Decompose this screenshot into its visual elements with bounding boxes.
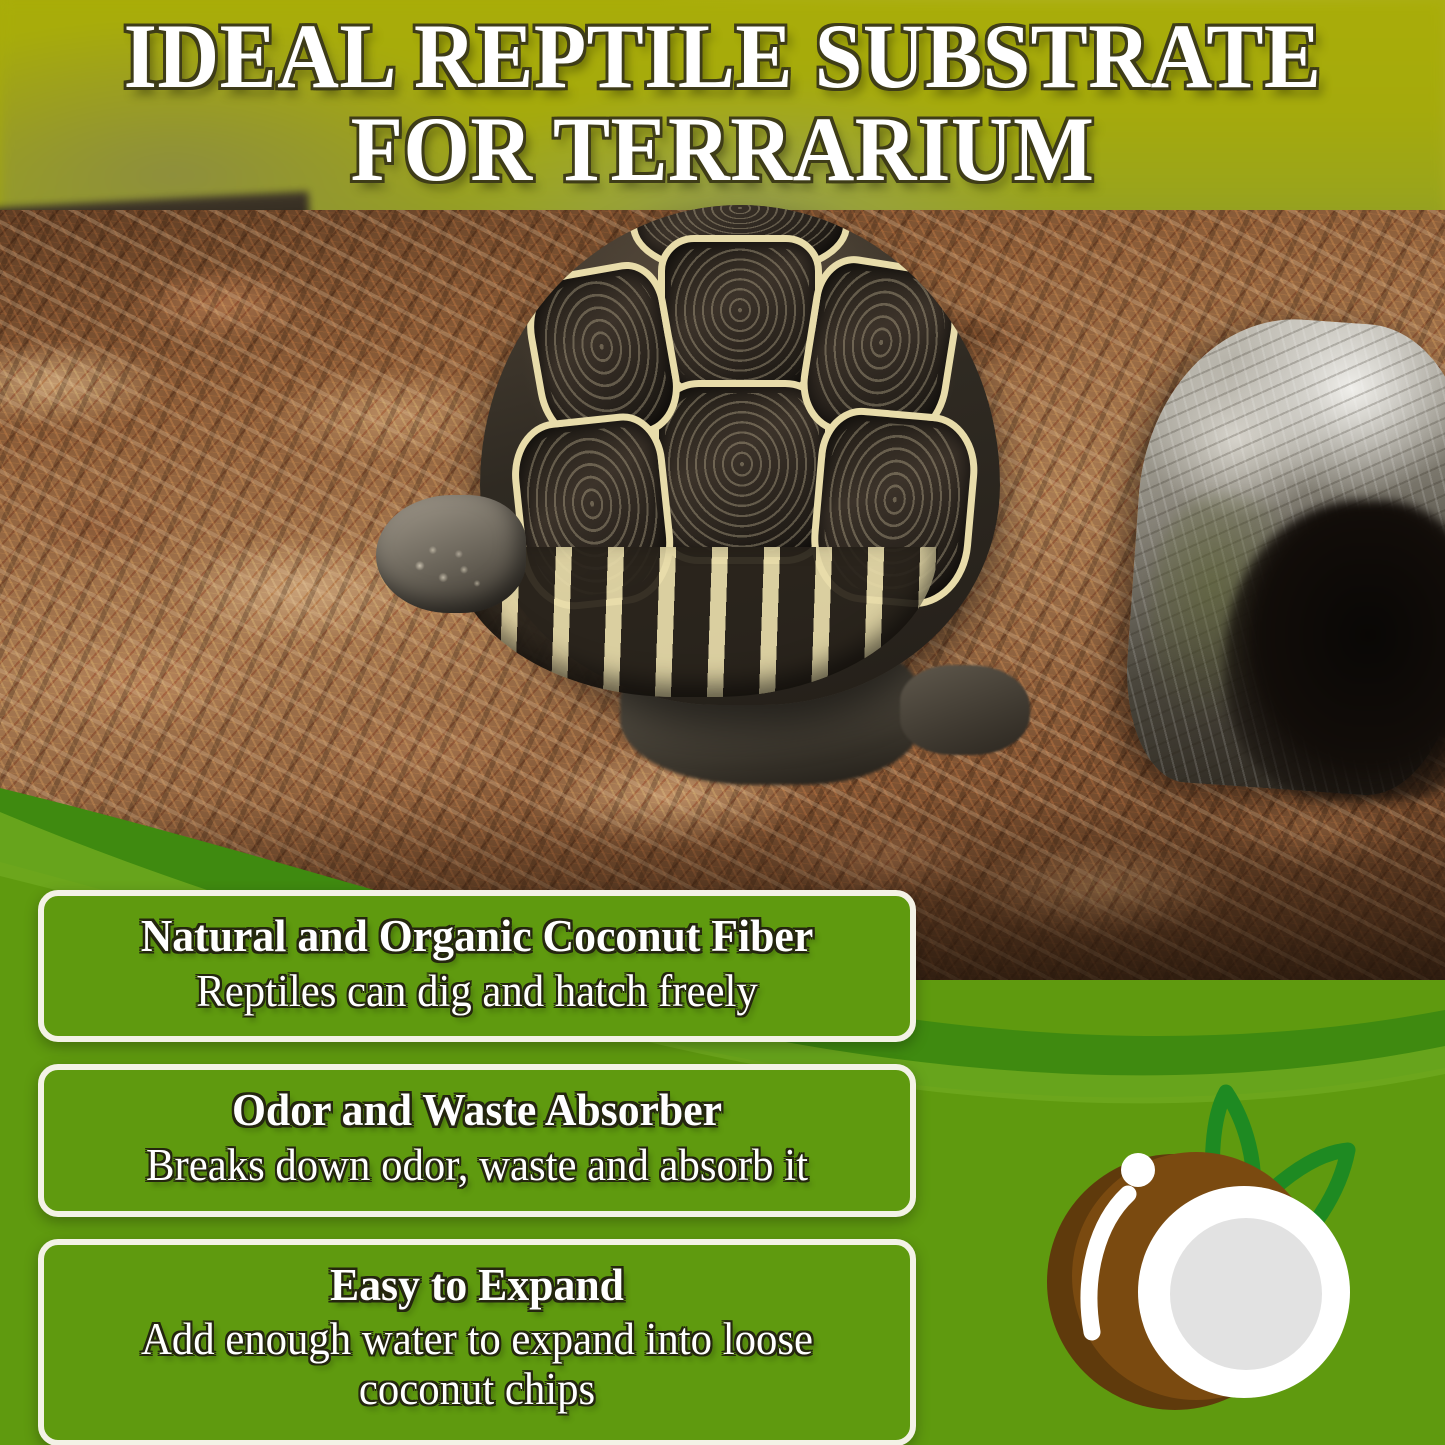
feature-title: Natural and Organic Coconut Fiber (87, 912, 868, 961)
feature-subtitle: Add enough water to expand into loose co… (87, 1315, 868, 1414)
product-infographic: IDEAL REPTILE SUBSTRATE FOR TERRARIUM Na… (0, 0, 1445, 1445)
coconut-logo (1000, 1070, 1400, 1430)
shell-scute (658, 235, 822, 399)
feature-subtitle: Reptiles can dig and hatch freely (87, 967, 868, 1017)
feature-title: Odor and Waste Absorber (87, 1086, 868, 1135)
feature-box-natural-organic[interactable]: Natural and Organic Coconut Fiber Reptil… (38, 890, 916, 1042)
head-scales (386, 505, 516, 603)
coconut-flesh-inner (1170, 1218, 1322, 1370)
feature-box-odor-absorber[interactable]: Odor and Waste Absorber Breaks down odor… (38, 1064, 916, 1216)
coconut-highlight-dot (1121, 1153, 1155, 1187)
page-title: IDEAL REPTILE SUBSTRATE FOR TERRARIUM (0, 0, 1445, 191)
feature-box-easy-expand[interactable]: Easy to Expand Add enough water to expan… (38, 1239, 916, 1445)
feature-subtitle: Breaks down odor, waste and absorb it (87, 1141, 868, 1191)
headline-line-1: IDEAL REPTILE SUBSTRATE (51, 14, 1395, 99)
tortoise-foot (900, 665, 1030, 755)
tortoise (370, 195, 1090, 795)
feature-list: Natural and Organic Coconut Fiber Reptil… (38, 890, 916, 1445)
headline-line-2: FOR TERRARIUM (51, 107, 1395, 192)
tortoise-head (376, 495, 526, 613)
feature-title: Easy to Expand (87, 1261, 868, 1310)
